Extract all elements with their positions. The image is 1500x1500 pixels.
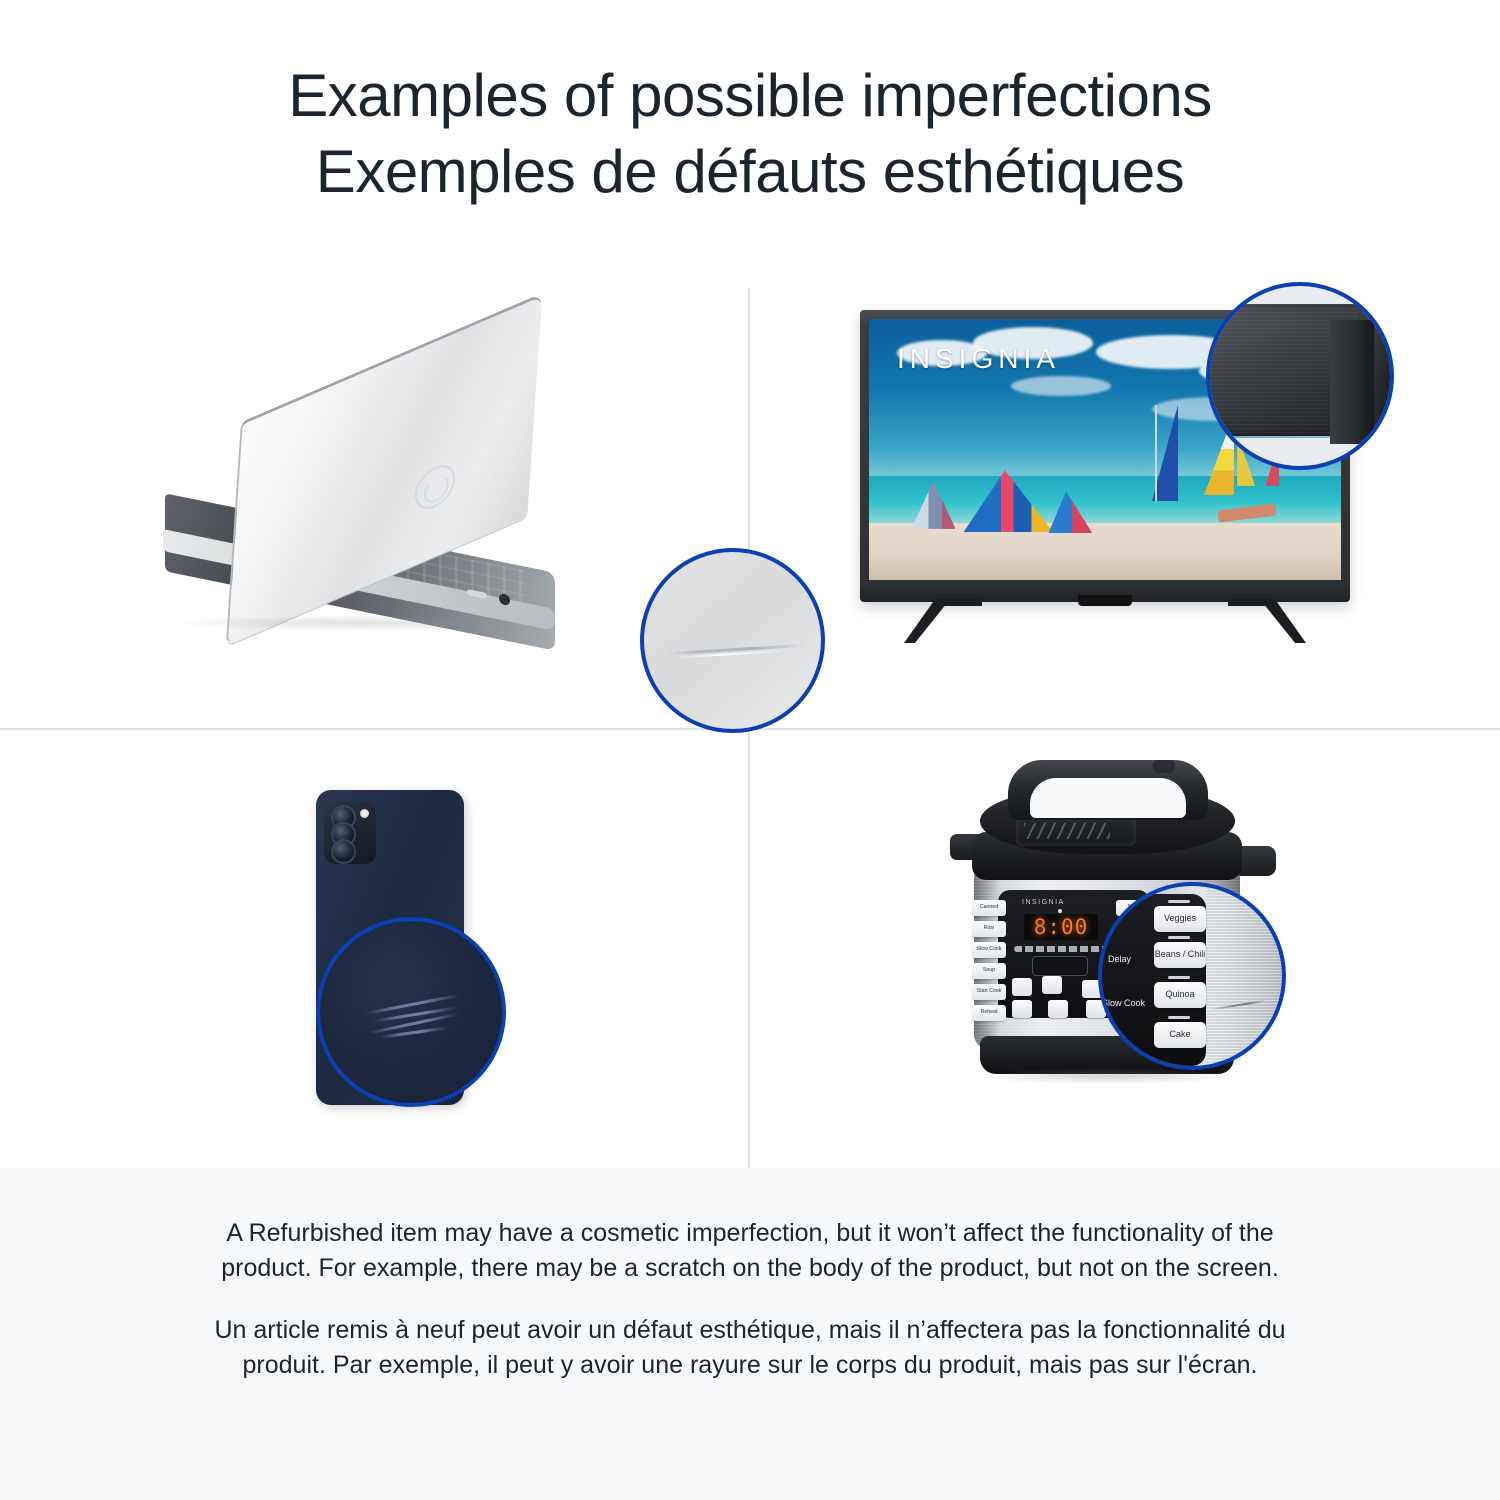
disclaimer-paragraph-fr: Un article remis à neuf peut avoir un dé… [185, 1313, 1315, 1383]
laptop-graphic [175, 363, 595, 643]
page-title-en: Examples of possible imperfections [288, 58, 1211, 134]
television-illustration: INSIGNIA [750, 268, 1500, 728]
magnified-tick [1168, 976, 1190, 979]
cooker-button-saute[interactable] [1012, 1000, 1032, 1018]
laptop-shadow [175, 615, 545, 631]
magnified-tick [1168, 1016, 1190, 1019]
tv-image-sand [869, 523, 1341, 580]
magnified-label: Delay [1108, 954, 1131, 964]
header: Examples of possible imperfections Exemp… [0, 0, 1500, 268]
examples-grid: INSIGNIA [0, 268, 1500, 1168]
magnified-tick [1168, 936, 1190, 939]
magnified-label: Slow Cook [1102, 998, 1145, 1008]
cooker-preset-button[interactable]: Slow Cook [972, 942, 1006, 958]
smartphone-graphic [296, 790, 476, 1130]
tv-ir-sensor [1078, 595, 1132, 606]
cooker-preset-button[interactable]: Canned [972, 900, 1006, 916]
cooker-preset-button[interactable]: Reheat [972, 1005, 1006, 1021]
tv-leg-left [904, 599, 982, 643]
sail-mast [1155, 405, 1157, 501]
camera-lens-icon [333, 841, 354, 862]
cooker-status-led [1058, 909, 1062, 913]
cooker-shadow [978, 1068, 1236, 1084]
magnified-tick [1168, 900, 1190, 903]
tv-leg-right [1228, 599, 1306, 643]
cooker-lid-vent [1016, 818, 1136, 846]
example-cell-television: INSIGNIA [750, 268, 1500, 728]
cooker-preset-button[interactable]: Soup [972, 963, 1006, 979]
camera-flash-icon [360, 809, 369, 818]
cooker-pressure-valve-icon [1153, 760, 1175, 773]
magnified-button[interactable]: Quinoa [1154, 982, 1206, 1008]
disclaimer-paragraph-en: A Refurbished item may have a cosmetic i… [185, 1216, 1315, 1286]
cooker-button-manual[interactable] [1012, 978, 1032, 996]
cooker-preset-button[interactable]: Rice [972, 921, 1006, 937]
magnified-bezel-right [1330, 320, 1374, 444]
magnified-button[interactable]: Veggies [1154, 906, 1206, 932]
pressure-cooker-graphic: INSIGNIA 8:00 Canned Rice [950, 750, 1310, 1110]
laptop-illustration [0, 268, 748, 728]
example-cell-smartphone [0, 730, 748, 1168]
cooker-left-button-column: Canned Rice Slow Cook Soup Start Cook Re… [972, 900, 1006, 1021]
cooker-button-slowcook[interactable] [1048, 1000, 1068, 1018]
scratch-mark [365, 994, 460, 1015]
example-cell-pressure-cooker: INSIGNIA 8:00 Canned Rice [750, 730, 1500, 1168]
cooker-mode-indicator-bar [1014, 946, 1110, 952]
magnified-steel-surface [1206, 886, 1286, 1066]
page-title-fr: Exemples de défauts esthétiques [316, 134, 1184, 210]
cooker-pressure-button[interactable] [1032, 956, 1088, 976]
tv-screen-logo: INSIGNIA [897, 343, 1060, 375]
magnifier-circle-smartphone [316, 917, 506, 1107]
refurbished-imperfections-infographic: Examples of possible imperfections Exemp… [0, 0, 1500, 1500]
magnifier-circle-pressure-cooker: Veggies Beans / Chili Quinoa Cake Delay … [1098, 882, 1286, 1070]
cooker-preset-button[interactable]: Start Cook [972, 984, 1006, 1000]
footer-disclaimer: A Refurbished item may have a cosmetic i… [0, 1168, 1500, 1500]
example-cell-laptop [0, 268, 748, 728]
camera-module-icon [324, 802, 376, 864]
pressure-cooker-illustration: INSIGNIA 8:00 Canned Rice [750, 730, 1500, 1168]
magnifier-circle-television [1206, 282, 1394, 470]
magnified-button[interactable]: Beans / Chili [1154, 942, 1206, 968]
television-graphic: INSIGNIA [860, 310, 1360, 670]
cooker-brand-label: INSIGNIA [1022, 899, 1065, 906]
cooker-lid-handle [1008, 760, 1208, 820]
cooker-button-keepwarm[interactable] [1042, 976, 1062, 994]
cooker-led-display: 8:00 [1024, 914, 1098, 940]
smartphone-illustration [0, 730, 748, 1168]
magnified-button[interactable]: Cake [1154, 1022, 1206, 1048]
